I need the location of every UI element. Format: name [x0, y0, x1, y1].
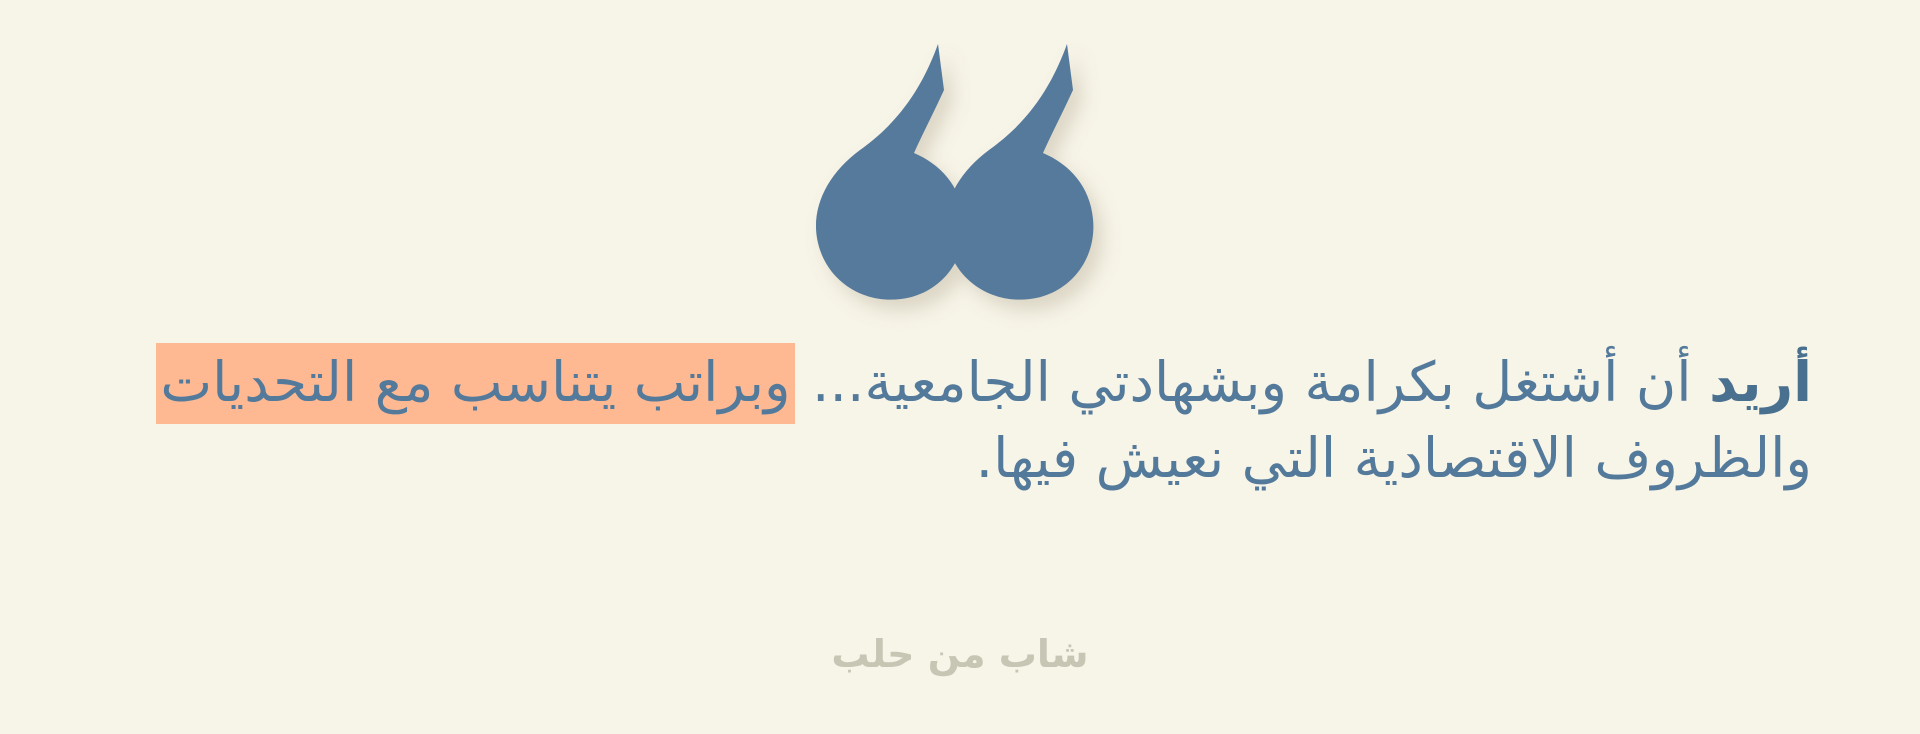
quote-text-block: أريد أن أشتغل بكرامة وبشهادتي الجامعية..… — [0, 345, 1920, 495]
quote-mark-decoration — [810, 38, 1110, 306]
quote-line-1: أريد أن أشتغل بكرامة وبشهادتي الجامعية..… — [90, 345, 1812, 419]
quote-attribution: شاب من حلب — [0, 628, 1920, 680]
quote-highlighted-phrase: وبراتب يتناسب مع التحديات — [156, 343, 794, 424]
quote-line-2: والظروف الاقتصادية التي نعيش فيها. — [90, 421, 1812, 495]
quotation-mark-icon — [810, 38, 1110, 306]
quote-lead-word: أريد — [1709, 350, 1812, 414]
quote-line-1-plain: أن أشتغل بكرامة وبشهادتي الجامعية... — [795, 350, 1709, 414]
quote-card: أريد أن أشتغل بكرامة وبشهادتي الجامعية..… — [0, 0, 1920, 734]
